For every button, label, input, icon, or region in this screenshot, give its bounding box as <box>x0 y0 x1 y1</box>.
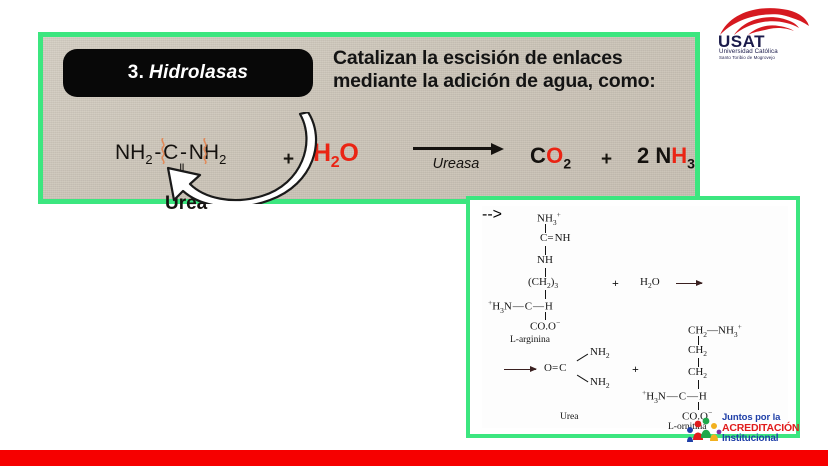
inset-reaction-arrow-bottom-icon <box>504 369 536 370</box>
usat-tagline-2: Santo Toribio de Mogrovejo <box>719 56 775 60</box>
arg-ch2-chain: (CH2)3 <box>528 276 558 290</box>
people-group-icon <box>686 416 722 442</box>
main-slide-panel: 3. Hidrolasas Catalizan la escisión de e… <box>38 32 700 204</box>
product-co2: CO2 <box>530 143 571 171</box>
arg-alpha-carbon-line: +H3N — C — H <box>488 298 553 315</box>
page-title: Hidrolasas <box>149 62 248 84</box>
orn-ch2-nh3: CH2—NH3+ <box>688 322 742 339</box>
equation-plus-2: + <box>601 149 612 171</box>
arg-label: L-arginina <box>510 335 550 345</box>
nh3-sub: 3 <box>687 155 695 171</box>
arg-carboxylate: CO.O− <box>530 318 560 333</box>
inset-plus-reagent: + <box>612 276 619 291</box>
co2-c: C <box>530 143 546 168</box>
co2-o: O <box>546 143 563 168</box>
urea-nh2-top: NH2 <box>590 346 610 360</box>
nh3-h: H <box>671 143 687 168</box>
urea-o-eq-c: O=C <box>544 362 567 374</box>
footer-red-bar <box>0 450 828 466</box>
urea-nh2-bottom: NH2 <box>590 376 610 390</box>
inset-reaction-arrow-top-icon <box>676 283 702 284</box>
inset-figure-panel: NH3+ C=NH NH (CH2)3 +H3N — C — H CO.O− L… <box>466 196 800 438</box>
co2-sub: 2 <box>563 155 571 171</box>
accreditation-badge: Juntos por la ACREDITACIÓN Institucional <box>686 412 806 446</box>
orn-ch2-3: CH2 <box>688 366 707 380</box>
arginase-reaction-figure: NH3+ C=NH NH (CH2)3 +H3N — C — H CO.O− L… <box>482 206 788 428</box>
catalyst-arrow-group: Ureasa <box>413 141 509 172</box>
section-heading: Catalizan la escisión de enlaces mediant… <box>333 47 693 92</box>
orn-ch2-2: CH2 <box>688 344 707 358</box>
nh3-coefficient: 2 N <box>637 143 671 168</box>
section-title-pill: 3. Hidrolasas <box>63 49 313 97</box>
urea-product-label: Urea <box>560 412 578 422</box>
inset-plus-product: + <box>632 362 639 377</box>
arg-nh3-plus: NH3+ <box>537 210 561 227</box>
inset-water: H2O <box>640 276 660 290</box>
urea-bond-down <box>577 375 589 383</box>
catalyst-label: Ureasa <box>413 156 499 172</box>
arg-c-eq-nh: C=NH <box>540 232 570 244</box>
urea-bond-up <box>577 354 589 362</box>
reaction-arrow-icon <box>413 141 509 155</box>
arg-nh: NH <box>537 254 553 266</box>
usat-logo: USAT Universidad Católica Santo Toribio … <box>710 6 818 60</box>
urea-nh2-left: NH <box>115 141 145 164</box>
product-nh3: 2 NH3 <box>637 143 695 171</box>
water-o: O <box>339 139 358 167</box>
section-number: 3. <box>128 62 144 84</box>
curved-white-arrow-icon <box>150 112 320 204</box>
accreditation-line-3: Institucional <box>722 433 778 444</box>
